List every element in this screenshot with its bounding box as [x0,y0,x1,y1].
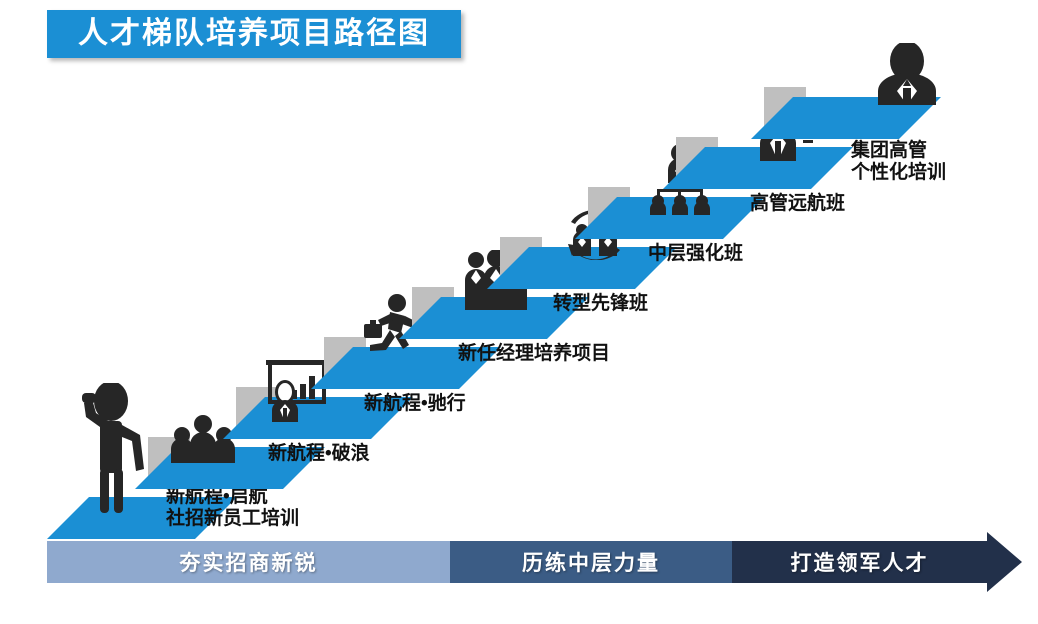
phase-segment-1-label: 夯实招商新锐 [180,547,318,577]
phase-segment-2-label: 历练中层力量 [522,547,660,577]
page-title-banner: 人才梯队培养项目路径图 [47,10,461,58]
phase-arrow-bar: 夯实招商新锐 历练中层力量 打造领军人才 [47,541,1022,583]
diagram-canvas: 人才梯队培养项目路径图 新航程•启航 社招新员工培训 [0,0,1038,624]
phase-segment-1[interactable]: 夯实招商新锐 [47,541,450,583]
step-8-label-line2: 个性化培训 [851,162,946,184]
step-1-label-line2: 社招新员工培训 [166,508,299,530]
phase-segment-3[interactable]: 打造领军人才 [732,541,987,583]
page-title: 人才梯队培养项目路径图 [78,19,430,49]
arrow-head-icon [987,532,1022,592]
phase-segment-3-label: 打造领军人才 [791,547,929,577]
executive-portrait-icon [872,43,942,105]
phase-segment-2[interactable]: 历练中层力量 [450,541,732,583]
